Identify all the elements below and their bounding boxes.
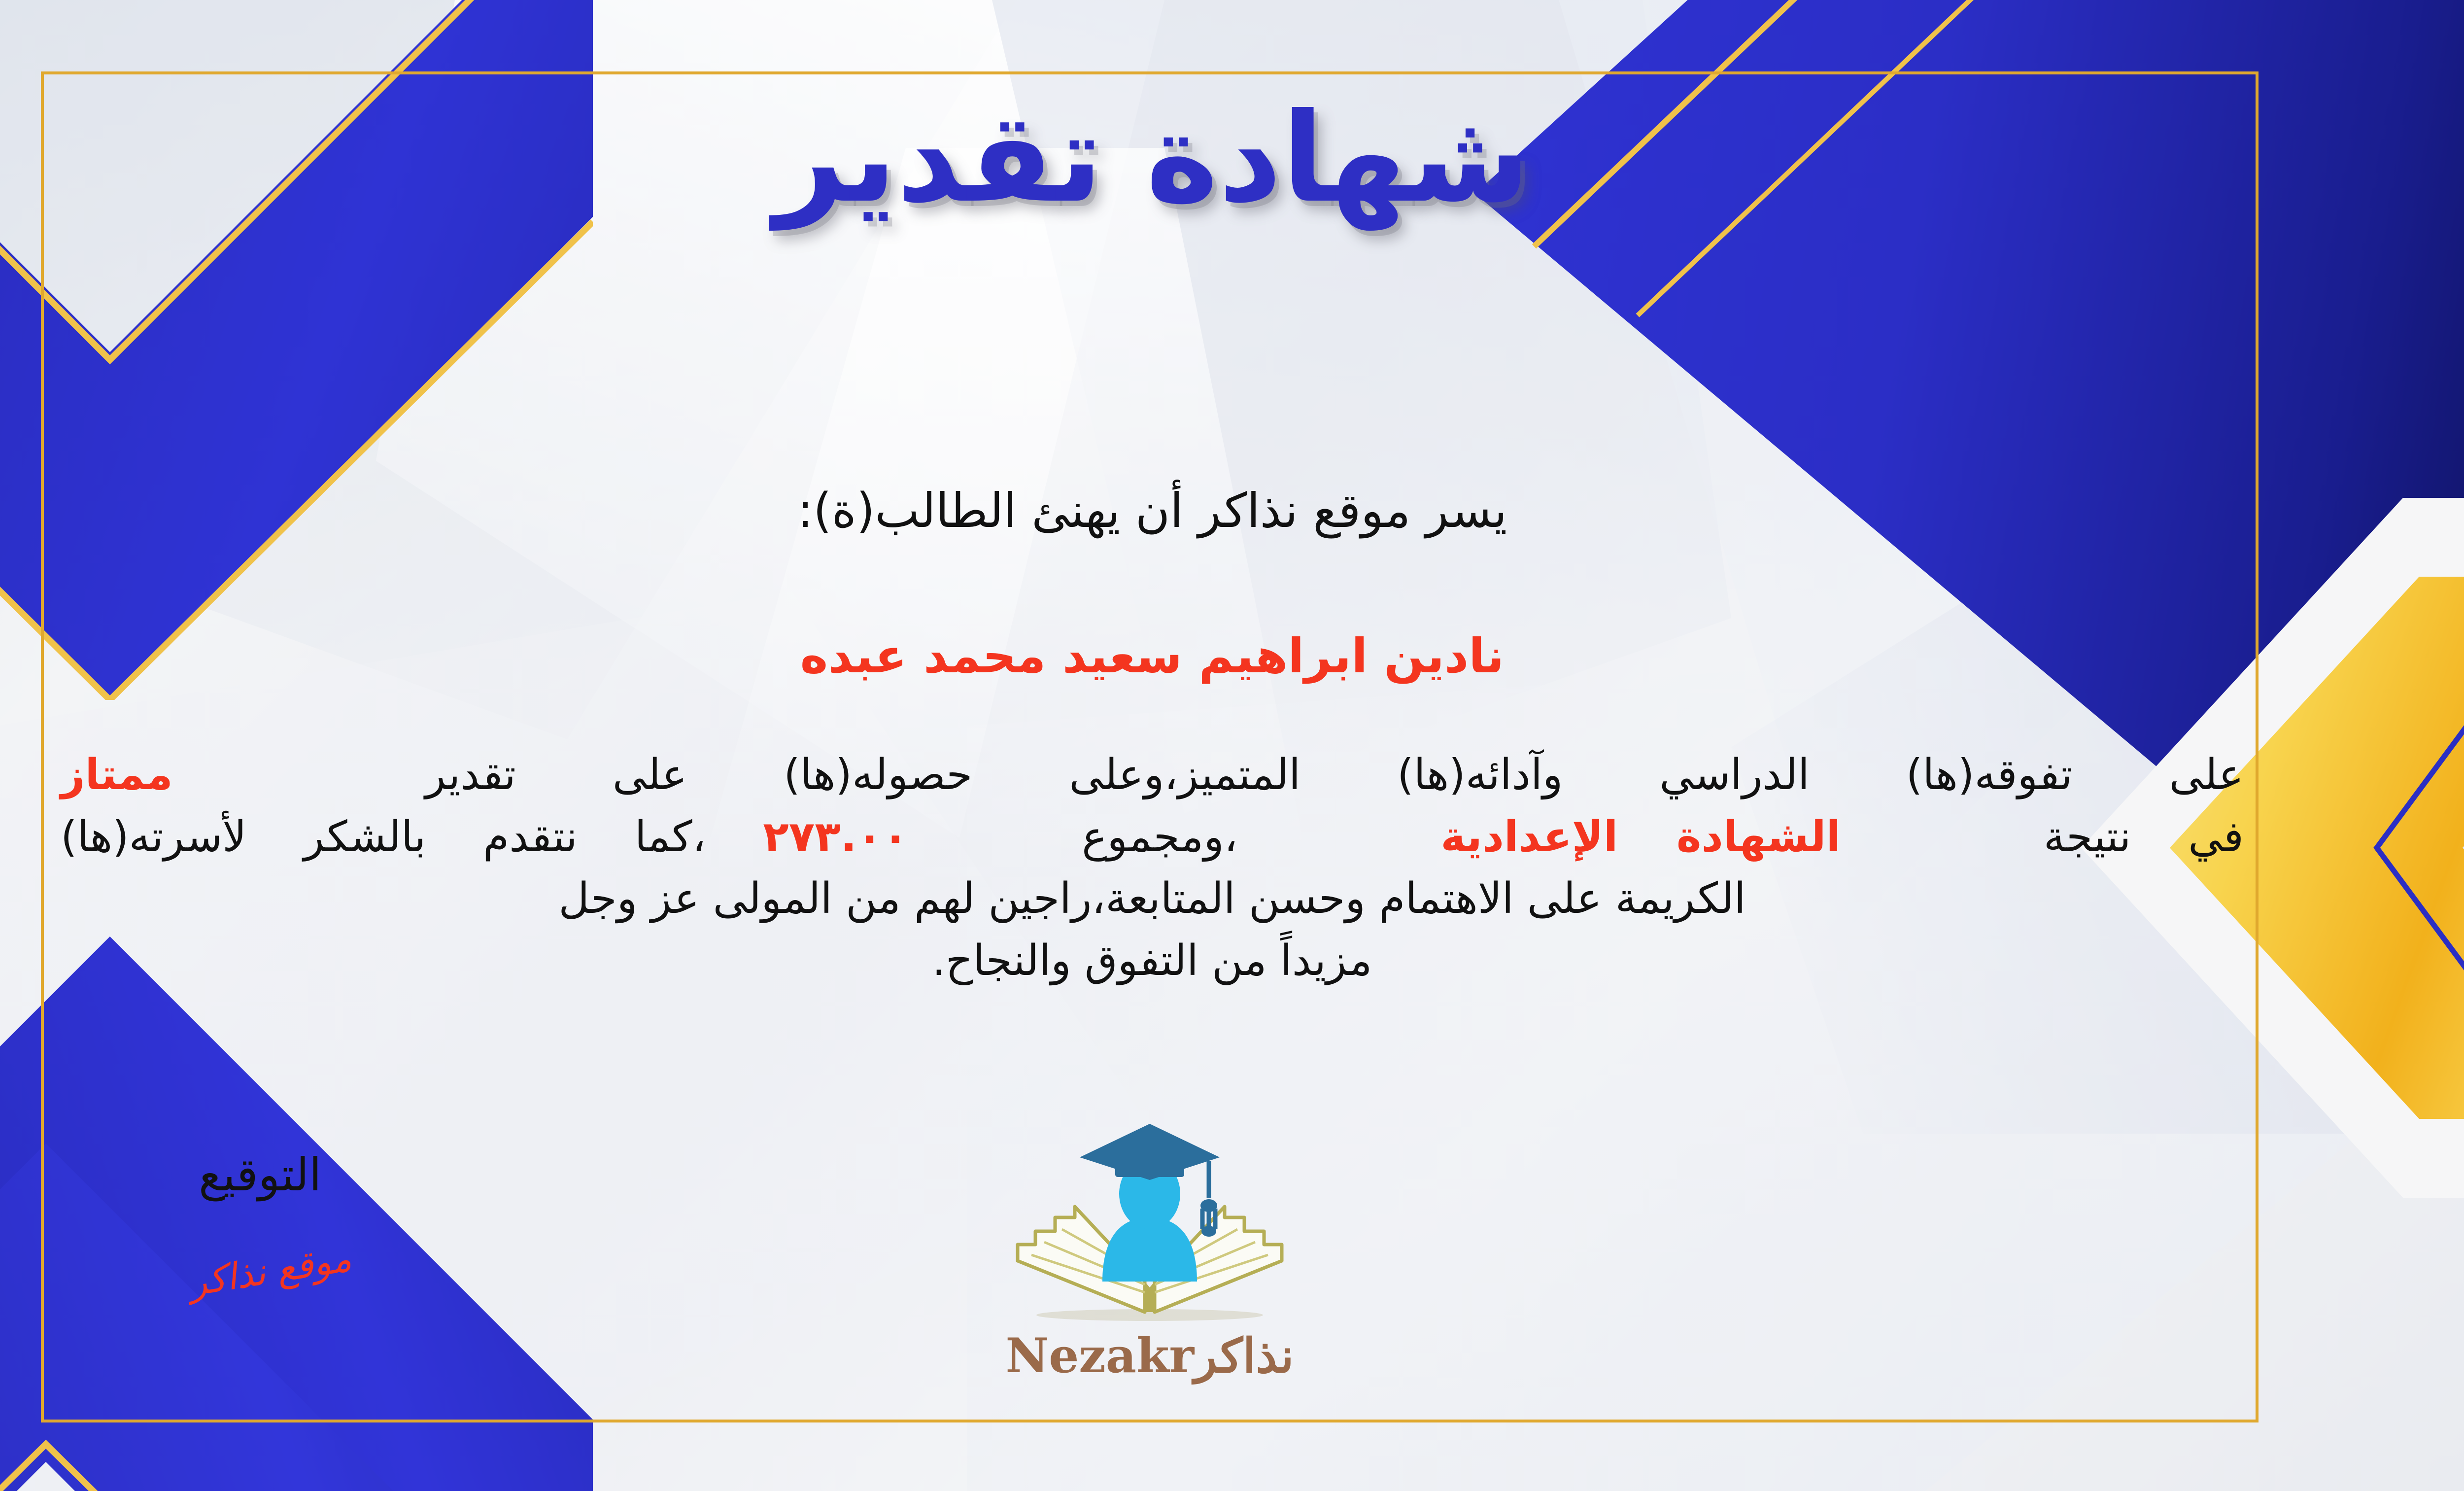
total-score: ٢٧٣.٠٠ <box>763 812 908 862</box>
body-line-1-text: على تفوقه(ها) الدراسي وآدائه(ها) المتميز… <box>425 750 2244 799</box>
body-line-2-suffix: ،كما نتقدم بالشكر لأسرته(ها) <box>61 812 706 862</box>
student-name: نادين ابراهيم سعيد محمد عبده <box>51 628 2254 684</box>
graduation-book-icon <box>997 1119 1302 1331</box>
signature-script: موقع نذاكر <box>186 1237 354 1305</box>
body-line-3: الكريمة على الاهتمام وحسن المتابعة،راجين… <box>61 868 2244 930</box>
body-line-4: مزيداً من التفوق والنجاح. <box>61 930 2244 992</box>
certificate-content: شهادة تقدير يسر موقع نذاكر أن يهنئ الطال… <box>51 79 2254 1415</box>
signature-label: التوقيع <box>199 1148 322 1201</box>
certificate-canvas: شهادة تقدير يسر موقع نذاكر أن يهنئ الطال… <box>0 0 2464 1491</box>
site-logo: نذاكرNezakr <box>918 1119 1381 1424</box>
logo-wordmark: نذاكرNezakr <box>918 1328 1381 1384</box>
exam-name: الشهادة الإعدادية <box>1440 812 1841 862</box>
certificate-body: على تفوقه(ها) الدراسي وآدائه(ها) المتميز… <box>61 744 2244 992</box>
body-line-2: في نتيجة الشهادة الإعدادية ،ومجموع ٢٧٣.٠… <box>61 806 2244 868</box>
body-line-2-middle: ،ومجموع <box>1082 812 1237 862</box>
body-line-2-prefix: في نتيجة <box>2044 812 2244 862</box>
grade-value: ممتاز <box>61 750 173 799</box>
body-line-1: على تفوقه(ها) الدراسي وآدائه(ها) المتميز… <box>61 744 2244 806</box>
certificate-title: شهادة تقدير <box>51 94 2254 223</box>
greeting-line: يسر موقع نذاكر أن يهنئ الطالب(ة): <box>51 483 2254 538</box>
